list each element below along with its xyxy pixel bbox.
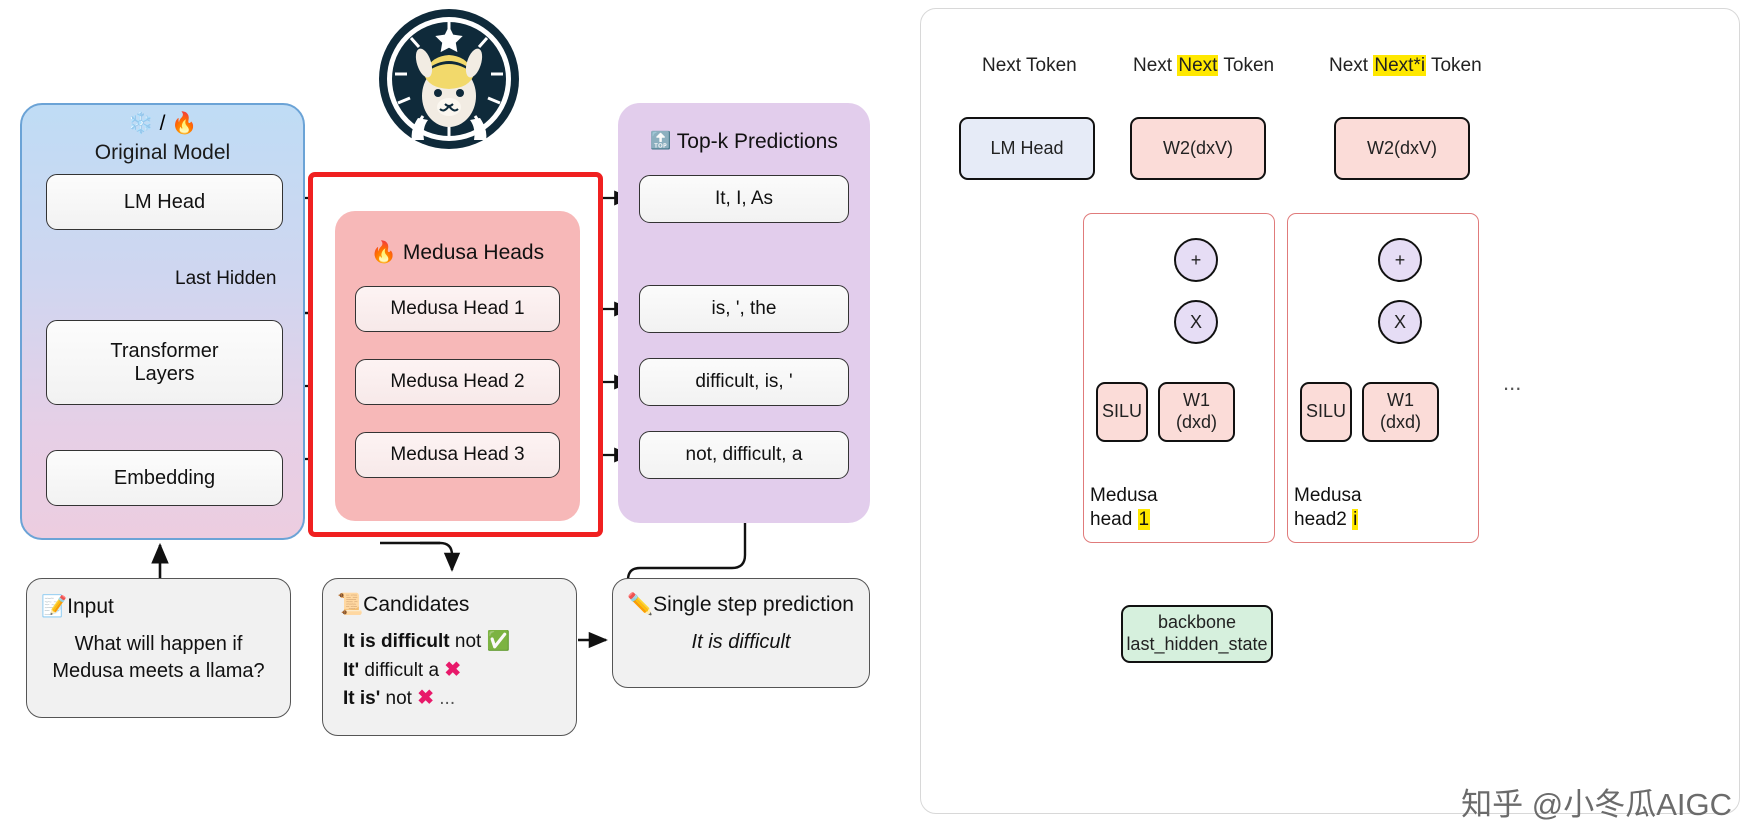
memo-icon: 📝 [41, 595, 67, 618]
single-step-title-label: Single step prediction [653, 593, 854, 616]
backbone-hidden-state-box[interactable]: backbone last_hidden_state [1121, 605, 1273, 663]
backbone-line2: last_hidden_state [1126, 634, 1267, 654]
col1-post: Token [1026, 55, 1077, 76]
input-card: 📝Input What will happen if Medusa meets … [26, 578, 291, 718]
right-w2-box-1[interactable]: W2(dxV) [1130, 117, 1266, 180]
input-text: What will happen if Medusa meets a llama… [27, 631, 290, 685]
last-hidden-edge-label: Last Hidden [175, 268, 276, 290]
candidate-1-check-icon: ✅ [487, 631, 511, 652]
backbone-label: backbone last_hidden_state [1126, 612, 1267, 655]
w1-box-1[interactable]: W1 (dxd) [1158, 382, 1235, 442]
candidates-title-label: Candidates [363, 593, 469, 616]
watermark: 知乎 @小冬瓜AIGC [1461, 779, 1732, 824]
medusa-heads-panel: 🔥 Medusa Heads Medusa Head 1 Medusa Head… [335, 211, 580, 521]
scroll-icon: 📜 [337, 593, 363, 616]
input-title: 📝Input [41, 595, 114, 619]
medusa-head-2-box[interactable]: Medusa Head 2 [355, 359, 560, 405]
multiply-circle-2: X [1378, 300, 1422, 344]
medusa-head-label-2: Medusa head2 i [1294, 484, 1362, 532]
medusa-head-label-1: Medusa head 1 [1090, 484, 1158, 532]
col1-pre: Next [982, 55, 1026, 76]
topk-predictions-panel: 🔝 Top-k Predictions It, I, As is, ', the… [618, 103, 870, 523]
col3-post: Token [1426, 55, 1482, 76]
silu-box-2[interactable]: SILU [1300, 382, 1352, 442]
medusa-heads-title: 🔥 Medusa Heads [335, 241, 580, 265]
diagram-canvas: ❄️ / 🔥 Original Model LM Head Transforme… [0, 0, 1750, 836]
more-heads-ellipsis: ... [1503, 370, 1521, 396]
w1-box-2-label: W1 (dxd) [1380, 390, 1421, 433]
col3-highlight: Next*i [1373, 55, 1426, 76]
zhihu-logo: 知乎 [1461, 787, 1523, 822]
transformer-layers-label: Transformer Layers [110, 340, 218, 386]
candidates-card: 📜Candidates It is difficult not ✅ It' di… [322, 578, 577, 736]
prediction-box-3[interactable]: difficult, is, ' [639, 358, 849, 406]
col-heading-next-nexti-token: Next Next*i Token [1329, 55, 1482, 77]
freeze-fire-icon: ❄️ / 🔥 [22, 113, 303, 134]
head-label-2-index: i [1352, 509, 1358, 530]
col2-pre: Next [1133, 55, 1177, 76]
head-label-2-line2: head2 i [1294, 508, 1362, 532]
candidate-row-1: It is difficult not ✅ [343, 629, 510, 653]
prediction-box-4[interactable]: not, difficult, a [639, 431, 849, 479]
single-step-prediction-card: ✏️Single step prediction It is difficult [612, 578, 870, 688]
candidates-title: 📜Candidates [337, 593, 469, 617]
pencil-icon: ✏️ [627, 593, 653, 616]
w1-box-1-label: W1 (dxd) [1176, 390, 1217, 433]
transformer-layers-box[interactable]: Transformer Layers [46, 320, 283, 405]
candidate-2-rest: difficult a [364, 660, 439, 681]
head-label-2-line1: Medusa [1294, 484, 1362, 508]
medusa-head-1-box[interactable]: Medusa Head 1 [355, 286, 560, 332]
embedding-box[interactable]: Embedding [46, 450, 283, 506]
candidate-ellipsis: ... [439, 688, 455, 709]
right-lm-head-box[interactable]: LM Head [959, 117, 1095, 180]
add-circle-1: + [1174, 238, 1218, 282]
head-label-1-index: 1 [1138, 509, 1151, 530]
head-label-1-line1: Medusa [1090, 484, 1158, 508]
candidate-3-rest: not [386, 688, 412, 709]
head-label-1-pre: head [1090, 509, 1138, 530]
backbone-line1: backbone [1158, 612, 1236, 632]
single-step-title: ✏️Single step prediction [627, 593, 854, 617]
original-model-title: Original Model [22, 141, 303, 165]
candidate-2-bold: It' [343, 660, 359, 681]
input-title-label: Input [67, 595, 114, 618]
right-w2-box-2[interactable]: W2(dxV) [1334, 117, 1470, 180]
candidate-row-2: It' difficult a ✖ [343, 657, 461, 682]
top-arrow-icon: 🔝 [650, 131, 671, 150]
silu-box-1[interactable]: SILU [1096, 382, 1148, 442]
head-label-2-pre: head2 [1294, 509, 1352, 530]
candidate-1-bold: It is difficult [343, 631, 450, 652]
candidate-3-bold: It is' [343, 688, 380, 709]
add-circle-2: + [1378, 238, 1422, 282]
single-step-text: It is difficult [613, 631, 869, 654]
col-heading-next-token: Next Token [982, 55, 1077, 77]
topk-title: 🔝 Top-k Predictions [618, 130, 870, 154]
col2-post: Token [1218, 55, 1274, 76]
w1-box-2[interactable]: W1 (dxd) [1362, 382, 1439, 442]
candidate-1-rest: not [455, 631, 481, 652]
medusa-head-3-box[interactable]: Medusa Head 3 [355, 432, 560, 478]
prediction-box-1[interactable]: It, I, As [639, 175, 849, 223]
medusa-llama-logo [378, 8, 520, 150]
candidate-2-cross-icon: ✖ [444, 659, 461, 681]
head-label-1-line2: head 1 [1090, 508, 1158, 532]
candidate-3-cross-icon: ✖ [417, 687, 434, 709]
lm-head-box[interactable]: LM Head [46, 174, 283, 230]
watermark-author: @小冬瓜AIGC [1532, 787, 1732, 822]
prediction-box-2[interactable]: is, ', the [639, 285, 849, 333]
col3-pre: Next [1329, 55, 1373, 76]
multiply-circle-1: X [1174, 300, 1218, 344]
topk-title-label: Top-k Predictions [677, 130, 838, 153]
original-model-panel: ❄️ / 🔥 Original Model LM Head Transforme… [20, 103, 305, 540]
col2-highlight: Next [1177, 55, 1218, 76]
candidate-row-3: It is' not ✖ ... [343, 685, 455, 710]
col-heading-next-next-token: Next Next Token [1133, 55, 1274, 77]
